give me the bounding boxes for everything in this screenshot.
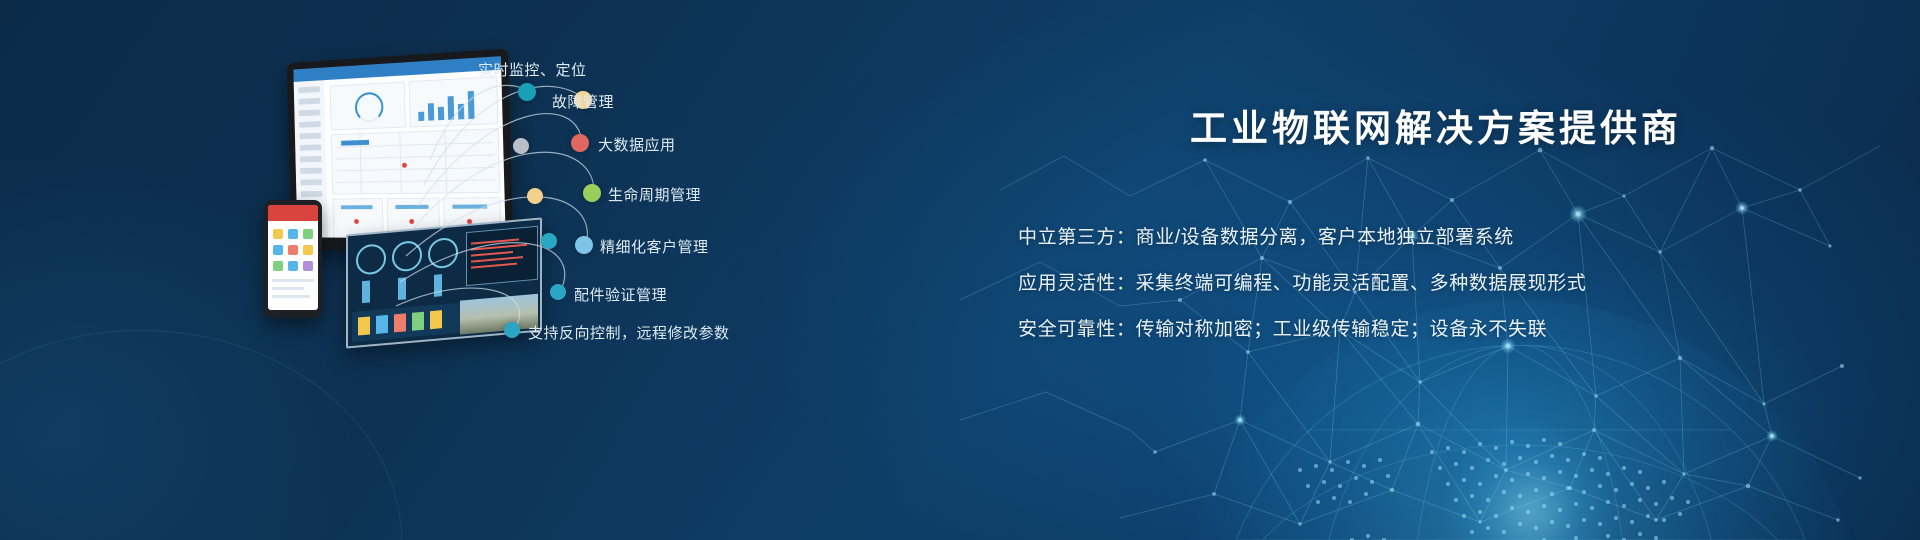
banner-stage: 实时监控、定位 故障管理 大数据应用 生命周期管理 精细化客户管理 配件验证管理… <box>0 0 1920 540</box>
bullet-item: 中立第三方：商业/设备数据分离，客户本地独立部署系统 <box>1018 222 1586 249</box>
bullet-list: 中立第三方：商业/设备数据分离，客户本地独立部署系统 应用灵活性：采集终端可编程… <box>1018 222 1586 360</box>
bullet-item: 应用灵活性：采集终端可编程、功能灵活配置、多种数据展现形式 <box>1018 268 1586 295</box>
bullet-item: 安全可靠性：传输对称加密；工业级传输稳定；设备永不失联 <box>1018 314 1586 341</box>
marketing-copy: 工业物联网解决方案提供商 中立第三方：商业/设备数据分离，客户本地独立部署系统 … <box>0 0 1920 540</box>
page-title: 工业物联网解决方案提供商 <box>1190 98 1682 152</box>
